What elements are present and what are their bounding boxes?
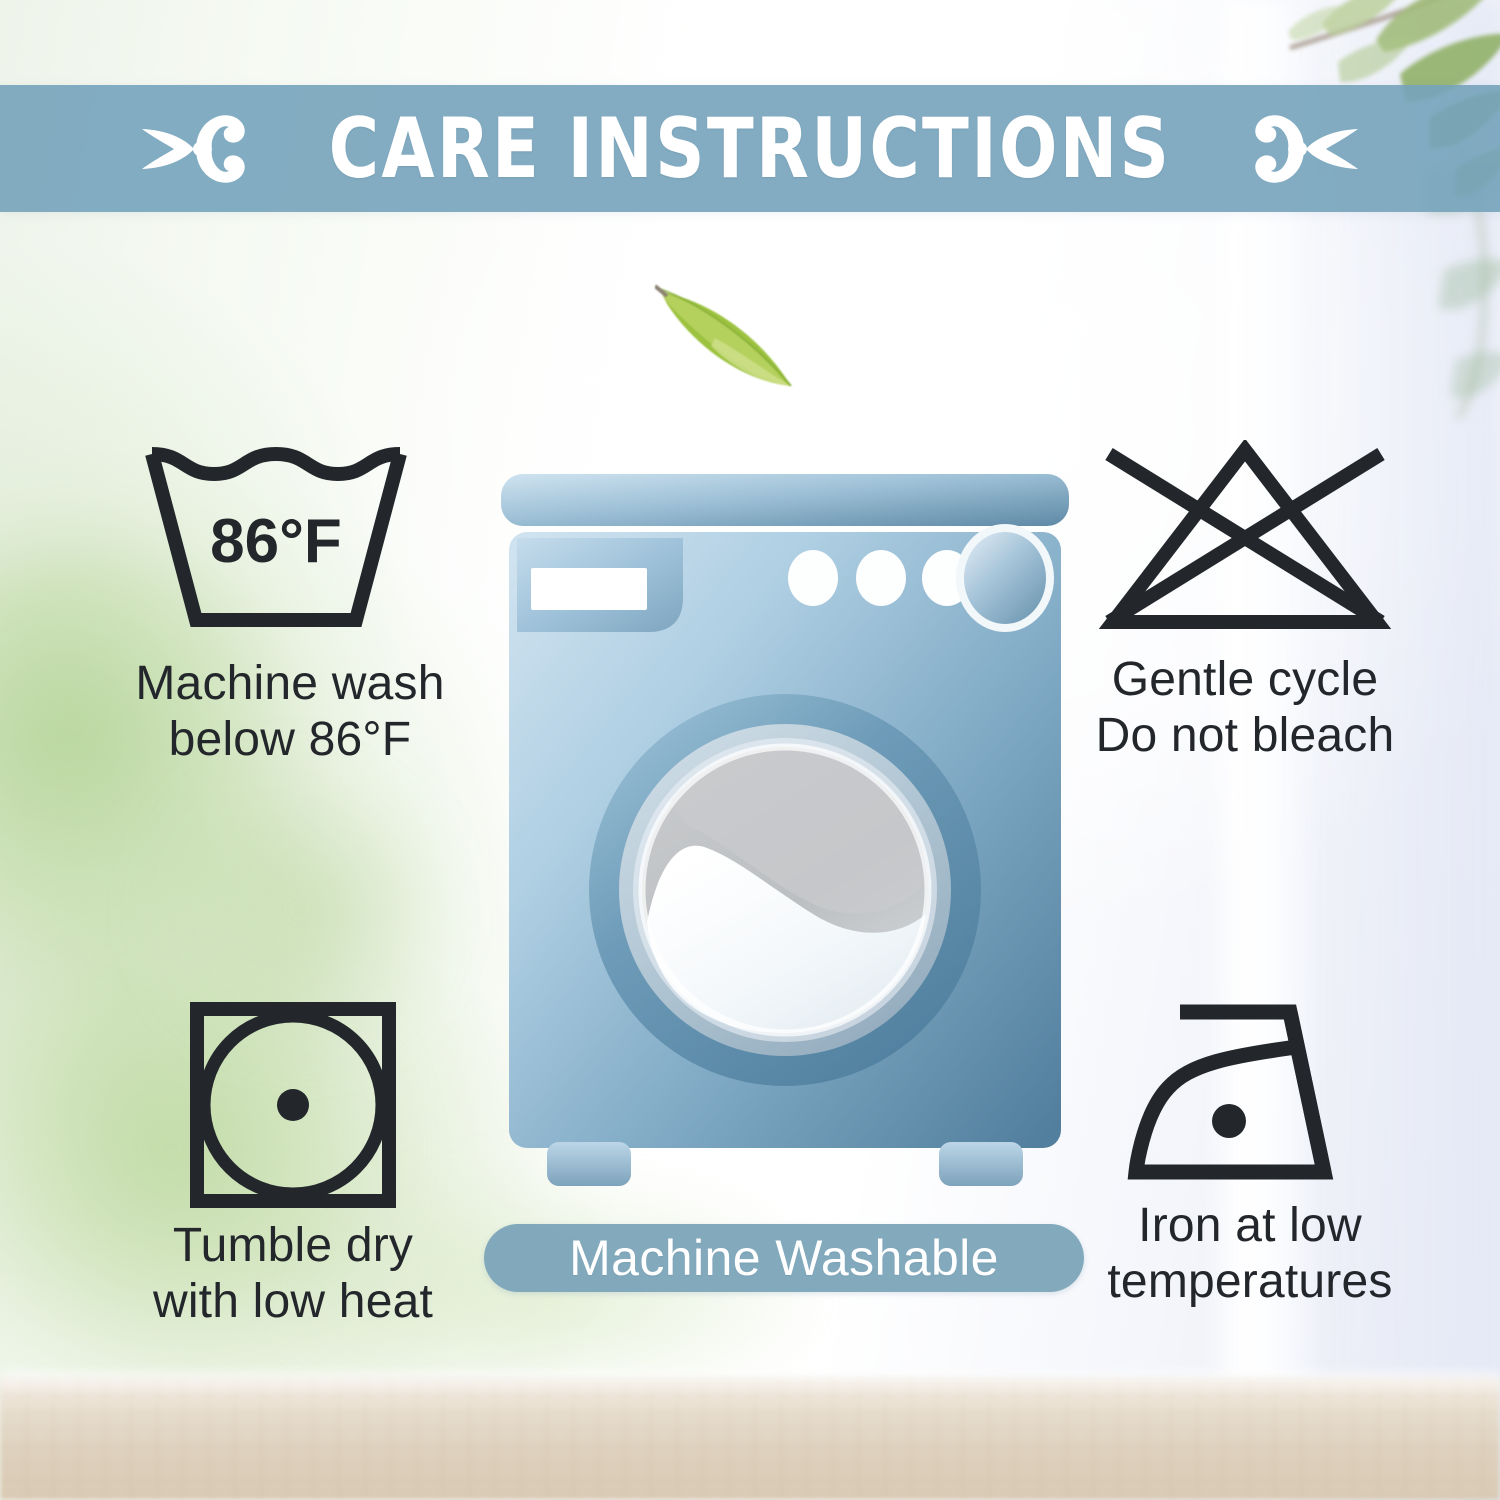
- wash-temperature-value: 86°F: [210, 507, 342, 576]
- care-item-no-bleach-label: Gentle cycle Do not bleach: [1096, 652, 1395, 764]
- care-item-tumble-dry-label: Tumble dry with low heat: [153, 1218, 433, 1330]
- control-dial-knob[interactable]: [956, 524, 1054, 632]
- infographic-canvas: CARE INSTRUCTIONS 86°F Machine wash belo…: [0, 0, 1500, 1500]
- care-item-machine-wash-label: Machine wash below 86°F: [135, 656, 444, 768]
- washer-foot-right: [939, 1142, 1023, 1186]
- detergent-drawer-handle[interactable]: [531, 568, 647, 610]
- washer-feet: [547, 1142, 1023, 1186]
- care-label-line2: with low heat: [153, 1274, 433, 1330]
- fleur-de-lis-ornament-right-icon: [1244, 106, 1374, 192]
- washing-machine-illustration: [495, 470, 1075, 1190]
- indicator-light-2: [856, 550, 906, 606]
- washer-top-lid: [501, 474, 1069, 526]
- care-label-line1: Iron at low: [1107, 1198, 1392, 1254]
- care-item-iron-low-temp: Iron at low temperatures: [1020, 1000, 1480, 1310]
- do-not-bleach-triangle-icon: [1095, 440, 1395, 638]
- iron-low-temperature-icon: [1124, 1000, 1376, 1190]
- machine-washable-badge: Machine Washable: [484, 1224, 1084, 1292]
- indicator-lights: [788, 550, 972, 606]
- care-item-machine-wash: 86°F Machine wash below 86°F: [60, 440, 520, 768]
- tumble-dry-low-heat-icon: [188, 1000, 398, 1210]
- care-label-line1: Machine wash: [135, 656, 444, 712]
- wash-tub-icon: 86°F: [140, 440, 440, 640]
- fleur-de-lis-ornament-left-icon: [126, 106, 256, 192]
- header-banner: CARE INSTRUCTIONS: [0, 85, 1500, 212]
- care-label-line2: Do not bleach: [1096, 708, 1395, 764]
- washer-door-window[interactable]: [589, 694, 981, 1086]
- washer-foot-left: [547, 1142, 631, 1186]
- care-label-line2: temperatures: [1107, 1254, 1392, 1310]
- detergent-drawer: [517, 538, 683, 632]
- care-label-line2: below 86°F: [135, 712, 444, 768]
- indicator-light-1: [788, 550, 838, 606]
- machine-washable-badge-label: Machine Washable: [569, 1229, 999, 1287]
- care-label-line1: Tumble dry: [153, 1218, 433, 1274]
- care-label-line1: Gentle cycle: [1096, 652, 1395, 708]
- falling-leaf-icon: [655, 278, 805, 398]
- care-item-iron-label: Iron at low temperatures: [1107, 1198, 1392, 1310]
- page-title: CARE INSTRUCTIONS: [329, 107, 1172, 190]
- care-item-gentle-cycle-no-bleach: Gentle cycle Do not bleach: [1010, 440, 1480, 764]
- wooden-table-surface: [0, 1378, 1500, 1500]
- care-item-tumble-dry-low: Tumble dry with low heat: [58, 1000, 528, 1330]
